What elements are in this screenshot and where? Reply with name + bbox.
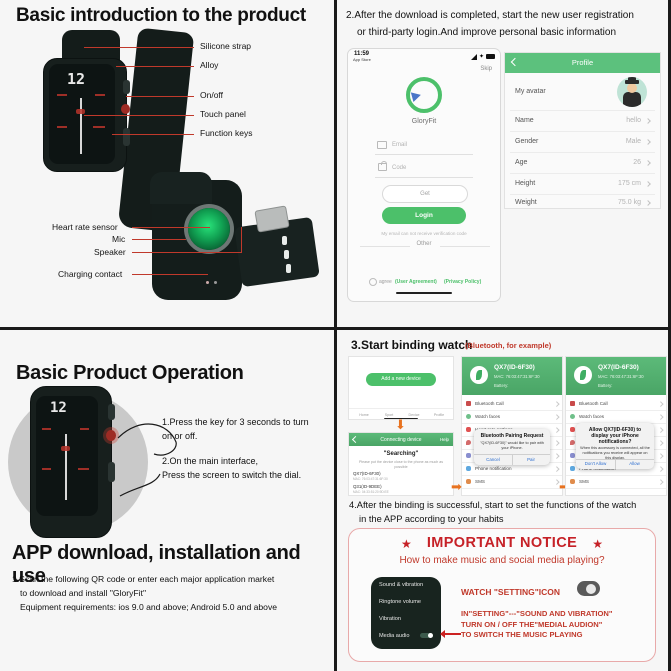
watch-screen-operation: Basic Product Operation 12 <box>36 396 98 516</box>
media-audio-toggle-knob[interactable] <box>428 633 433 638</box>
chevron-right-icon <box>554 401 559 406</box>
setting-row[interactable]: Watch faces <box>462 410 562 424</box>
chevron-right-icon <box>658 401 663 406</box>
strap-hole-1 <box>282 236 287 245</box>
leader-heart-rate-sensor <box>132 227 210 228</box>
divider-vertical <box>334 0 337 671</box>
setting-label: SMS <box>475 479 485 484</box>
leader-speaker <box>132 252 242 253</box>
callout-touch-panel: Touch panel <box>200 109 246 119</box>
dialog-pair-button[interactable]: Pair <box>512 457 550 462</box>
phone-icon <box>570 466 575 471</box>
dialog-title: Allow QX7(ID-6F30) to display your iPhon… <box>576 427 654 445</box>
envelope-icon <box>377 141 387 149</box>
email-placeholder: Email <box>392 142 407 148</box>
login-screen: 11:59 App Store ✦ Skip GloryFit Email Co… <box>347 48 501 302</box>
notice-title: IMPORTANT NOTICE <box>349 535 655 551</box>
arrow-down-icon: ⬇ <box>395 418 406 431</box>
op-tick-1 <box>42 428 51 430</box>
charging-contact-dot-1 <box>206 281 209 284</box>
watch-side-button-upper <box>123 80 130 94</box>
profile-row-name[interactable]: Name hello <box>510 110 655 132</box>
watch-crown <box>121 104 130 114</box>
profile-row-height[interactable]: Height 175 cm <box>510 173 655 195</box>
sms-icon <box>570 479 575 484</box>
op-tick-2 <box>80 428 89 430</box>
bind-screen-notifications: QX7(ID-6F30) MAC: 76:03:47:31:6F:30 Batt… <box>565 356 667 496</box>
setting-label: SMS <box>579 479 589 484</box>
setting-label: Bluetooth Call <box>475 401 504 406</box>
avatar-body <box>623 92 641 107</box>
watch-side-button-lower <box>123 128 130 146</box>
tab-home[interactable]: Home <box>353 413 375 417</box>
found-device-1-mac: MAC: 76:03:47:31:6F:30 <box>353 477 388 481</box>
app-line-3: Equipment requirements: ios 9.0 and abov… <box>20 600 277 614</box>
tabbar-divider <box>349 408 453 409</box>
agree-label: agree <box>379 279 392 285</box>
chevron-right-icon <box>554 479 559 484</box>
profile-screen: Profile My avatar Name hello Gender Male <box>504 52 661 209</box>
add-new-device-button[interactable]: Add a new device <box>366 373 436 386</box>
avatar-head <box>627 83 637 93</box>
dialog-cancel-button[interactable]: Cancel <box>474 457 512 462</box>
dialog-body: "QX7(ID-6F30)" would like to pair with y… <box>474 441 550 451</box>
profile-value-gender: Male <box>626 138 641 145</box>
profile-value-weight: 75.0 kg <box>618 199 641 206</box>
setting-row[interactable]: Bluetooth Call <box>566 397 666 411</box>
watch-setting-sound-vibration: Sound & vibration <box>379 582 423 588</box>
leader-touch-panel <box>84 115 194 116</box>
status-icons: ✦ <box>471 53 495 60</box>
watch-strap-bottom-left <box>150 172 212 204</box>
leader-mic <box>132 239 186 240</box>
setting-gear-icon <box>577 581 600 596</box>
chevron-right-icon <box>658 479 663 484</box>
watch-settings-panel: Sound & vibration Ringtone volume Vibrat… <box>371 577 441 649</box>
watch-leaf-icon <box>574 366 592 384</box>
notice-subtitle: How to make music and social media playi… <box>349 555 655 566</box>
callout-silicone-strap: Silicone strap <box>200 41 251 51</box>
notification-permission-dialog: Allow QX7(ID-6F30) to display your iPhon… <box>576 423 654 469</box>
skip-button[interactable]: Skip <box>480 66 492 72</box>
profile-value-height: 175 cm <box>618 180 641 187</box>
chevron-right-icon <box>658 414 663 419</box>
blood-oxygen-icon <box>466 440 471 445</box>
divider-horizontal-left <box>0 327 334 330</box>
leader-silicone-strap <box>84 47 194 48</box>
email-field[interactable]: Email <box>375 141 473 155</box>
chevron-right-icon <box>554 453 559 458</box>
strap-hole-3 <box>286 264 291 273</box>
leader-speaker-v <box>241 227 242 253</box>
chevron-right-icon <box>554 427 559 432</box>
profile-title: Profile <box>505 58 660 67</box>
help-button[interactable]: Help <box>440 437 449 442</box>
other-label: Other <box>348 241 500 247</box>
found-device-2-mac: MAC: 04:33:51:20:9D:EE <box>353 490 389 494</box>
setting-gear-inner <box>586 584 596 594</box>
watch-setting-vibration: Vibration <box>379 616 401 622</box>
notify-device-battery: Battery: <box>598 383 612 388</box>
bluetooth-call-icon <box>570 401 575 406</box>
important-notice-box: IMPORTANT NOTICE ★ ★ How to make music a… <box>348 528 656 662</box>
callout-alloy: Alloy <box>200 60 218 70</box>
heart-icon <box>466 427 471 432</box>
wifi-icon: ✦ <box>479 53 484 60</box>
home-indicator <box>396 292 452 294</box>
tab-profile[interactable]: Profile <box>428 413 450 417</box>
status-app-store: App Store <box>353 57 371 62</box>
notify-device-header: QX7(ID-6F30) MAC: 76:03:47:31:6F:30 Batt… <box>566 357 666 395</box>
page-title: Basic introduction to the product <box>16 5 306 27</box>
op-center <box>61 446 70 451</box>
code-placeholder: Code <box>392 165 406 171</box>
profile-row-gender[interactable]: Gender Male <box>510 131 655 153</box>
bind-subtitle: (Bluetooth, for example) <box>465 341 551 350</box>
verification-hint: My email can not receive verification co… <box>348 231 500 236</box>
app-line-2: to download and install "GloryFit" <box>20 586 146 600</box>
watch-faces-icon <box>466 414 471 419</box>
divider-horizontal-right <box>337 327 671 330</box>
bind-screen-add-device: Add a new device Home Sport Device Profi… <box>348 356 454 420</box>
leader-function-keys <box>112 134 194 135</box>
chevron-right-icon <box>658 453 663 458</box>
notice-body: IN"SETTING"---"SOUND AND VIBRATION" TURN… <box>461 609 613 641</box>
setting-row[interactable]: Watch faces <box>566 410 666 424</box>
profile-label-age: Age <box>515 159 527 166</box>
pairing-device-name: QX7(ID-6F30) <box>494 364 535 371</box>
profile-value-name: hello <box>626 117 641 124</box>
bind-title: 3.Start binding watch <box>351 338 472 352</box>
callout-charging-contact: Charging contact <box>58 269 122 279</box>
setting-row[interactable]: Bluetooth Call <box>462 397 562 411</box>
watch-face-digits: 12 <box>50 400 67 416</box>
manual-page: Basic introduction to the product 12 <box>0 0 671 671</box>
brand-name: GloryFit <box>348 118 500 125</box>
searching-header-title: Connecting device <box>349 437 453 443</box>
watch-face-tick-3 <box>57 126 67 128</box>
user-agreement-link[interactable]: (User Agreement) <box>395 279 437 285</box>
setting-label: Watch faces <box>475 414 500 419</box>
dialog-title: Bluetooth Pairing Request <box>474 433 550 439</box>
avatar-hat-top <box>628 77 636 81</box>
phone-icon <box>466 466 471 471</box>
chevron-right-icon <box>645 118 651 124</box>
blood-oxygen-icon <box>570 440 575 445</box>
strap-hole-2 <box>284 250 289 259</box>
bind-screen-searching: Connecting device Help "Searching" Pleas… <box>348 432 454 496</box>
pairing-device-battery: Battery: <box>494 383 508 388</box>
watch-face-hour: 12 <box>67 70 85 88</box>
watch-faces-icon <box>570 414 575 419</box>
chevron-right-icon <box>658 427 663 432</box>
lock-icon <box>378 163 387 171</box>
profile-row-avatar[interactable]: My avatar <box>510 74 655 111</box>
registration-line-1: 2.After the download is completed, start… <box>346 8 634 23</box>
dialog-dont-allow-button[interactable]: Don't Allow <box>576 461 615 466</box>
setting-row[interactable]: SMS <box>462 475 562 489</box>
bluetooth-call-icon <box>466 401 471 406</box>
registration-line-2: or third-party login.And improve persona… <box>357 25 616 40</box>
profile-label-gender: Gender <box>515 138 538 145</box>
signal-icon <box>471 54 477 60</box>
toggle-pointer-arrow <box>445 633 461 635</box>
searching-header: Connecting device Help <box>349 433 453 446</box>
callout-onoff: On/off <box>200 90 223 100</box>
callout-speaker: Speaker <box>94 247 126 257</box>
tab-device[interactable]: Device <box>403 413 425 417</box>
watch-face-tick-4 <box>93 126 105 128</box>
profile-label-height: Height <box>515 180 535 187</box>
star-icon-left: ★ <box>401 537 412 551</box>
pairing-device-mac: MAC: 76:03:47:31:6F:30 <box>494 374 540 379</box>
notify-device-mac: MAC: 76:03:47:31:6F:30 <box>598 374 644 379</box>
watch-face-hand <box>80 98 82 154</box>
bind-screen-pairing: QX7(ID-6F30) MAC: 76:03:47:31:6F:30 Batt… <box>461 356 563 496</box>
sleep-icon <box>466 453 471 458</box>
watch-leaf-icon <box>470 366 488 384</box>
operation-step-1a: 1.Press the key for 3 seconds to turn <box>162 415 309 429</box>
profile-value-age: 26 <box>633 159 641 166</box>
profile-label-weight: Weight <box>515 199 537 206</box>
leader-onoff <box>126 96 194 97</box>
setting-label: Bluetooth Call <box>579 401 608 406</box>
arrow-right-icon: ➡ <box>451 480 462 493</box>
op-tick-4 <box>78 468 89 470</box>
watch-setting-icon-label: WATCH "SETTING"ICON <box>461 587 560 597</box>
watch-setting-ringtone-volume: Ringtone volume <box>379 599 421 605</box>
callout-function-keys: Function keys <box>200 128 252 138</box>
dialog-allow-button[interactable]: Allow <box>615 461 654 466</box>
searching-hint: Please put the device close to the phone… <box>357 460 445 469</box>
status-bar: 11:59 App Store ✦ <box>348 49 500 63</box>
profile-row-weight[interactable]: Weight 75.0 kg <box>510 194 655 209</box>
chevron-right-icon <box>645 160 651 166</box>
chevron-right-icon <box>645 139 651 145</box>
heart-rate-sensor <box>188 208 230 250</box>
panel-registration: 2.After the download is completed, start… <box>337 0 668 327</box>
chevron-right-icon <box>554 466 559 471</box>
operation-step-1b: on or off. <box>162 429 197 443</box>
chevron-right-icon <box>658 466 663 471</box>
avatar <box>617 77 647 107</box>
get-code-button[interactable]: Get <box>382 185 468 203</box>
notify-device-name: QX7(ID-6F30) <box>598 364 639 371</box>
watch-face-tick-1 <box>57 94 67 96</box>
sleep-icon <box>570 453 575 458</box>
leader-alloy <box>116 66 194 67</box>
agree-checkbox[interactable] <box>369 278 377 286</box>
panel-product-introduction: Basic introduction to the product 12 <box>0 0 334 327</box>
chevron-right-icon <box>554 440 559 445</box>
code-field[interactable]: Code <box>375 164 473 178</box>
profile-label-avatar: My avatar <box>515 88 546 95</box>
setting-row[interactable]: SMS <box>566 475 666 489</box>
chevron-right-icon <box>645 181 651 187</box>
sms-icon <box>466 479 471 484</box>
charging-contact-dot-2 <box>214 281 217 284</box>
watch-face-center <box>76 109 85 114</box>
pairing-device-header: QX7(ID-6F30) MAC: 76:03:47:31:6F:30 Batt… <box>462 357 562 395</box>
chevron-right-icon <box>645 200 651 206</box>
battery-icon <box>486 54 495 59</box>
panel-basic-operation: Basic Product Operation Basic Product Op… <box>0 330 334 671</box>
op-hand <box>65 434 67 500</box>
login-button[interactable]: Login <box>382 207 466 224</box>
operation-step-2b: Press the screen to switch the dial. <box>162 468 301 482</box>
searching-label: "Searching" <box>349 451 453 457</box>
op-tick-3 <box>42 468 51 470</box>
star-icon-right: ★ <box>592 537 603 551</box>
heart-icon <box>570 427 575 432</box>
privacy-policy-link[interactable]: (Privacy Policy) <box>444 279 481 285</box>
leader-charging-contact <box>132 274 208 275</box>
chevron-right-icon <box>554 414 559 419</box>
step4-line-1: 4.After the binding is successful, start… <box>349 498 636 513</box>
setting-label: Phone notification <box>475 466 512 471</box>
chevron-right-icon <box>658 440 663 445</box>
found-device-2-name[interactable]: Q31(ID-9DEE) <box>353 484 382 489</box>
callout-mic: Mic <box>112 234 125 244</box>
app-line-1: 1.Scan the following QR code or enter ea… <box>12 572 274 586</box>
operation-step-2a: 2.On the main interface, <box>162 454 258 468</box>
profile-row-age[interactable]: Age 26 <box>510 152 655 174</box>
profile-label-name: Name <box>515 117 534 124</box>
callout-heart-rate-sensor: Heart rate sensor <box>52 222 118 232</box>
found-device-1-name[interactable]: QX7(ID-6F30) <box>353 471 381 476</box>
profile-header: Profile <box>505 53 660 73</box>
bluetooth-pairing-dialog: Bluetooth Pairing Request "QX7(ID-6F30)"… <box>474 429 550 465</box>
step4-line-2: in the APP according to your habits <box>359 512 504 527</box>
watch-face-tick-2 <box>95 94 105 96</box>
panel-binding-and-notice: 3.Start binding watch (Bluetooth, for ex… <box>337 330 668 671</box>
setting-label: Watch faces <box>579 414 604 419</box>
watch-screen: 12 <box>49 64 115 164</box>
watch-setting-media-audio: Media audio <box>379 633 409 639</box>
section-title-operation: Basic Product Operation <box>16 362 244 385</box>
